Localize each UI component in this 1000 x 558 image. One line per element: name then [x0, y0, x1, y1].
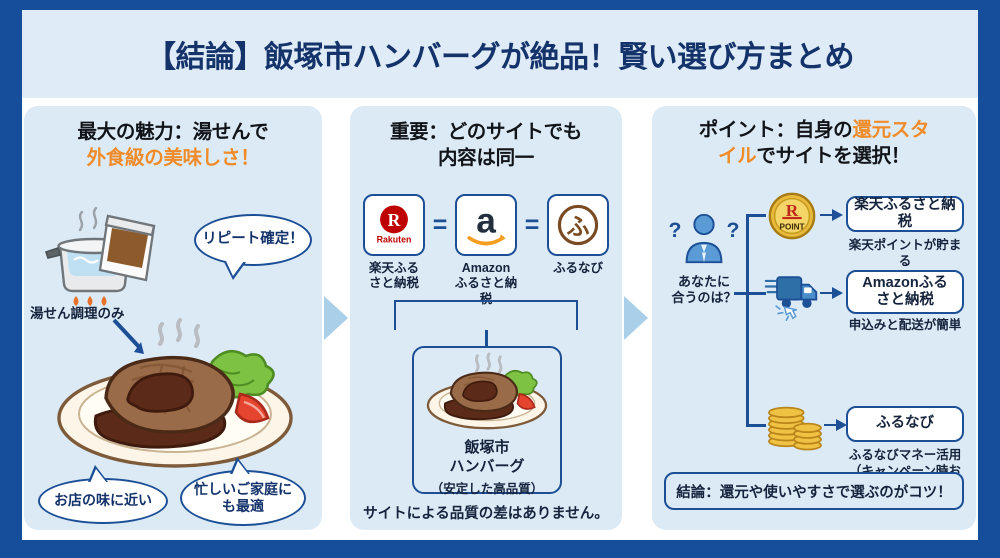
- conclusion-banner: 結論：還元や使いやすさで選ぶのがコツ！: [664, 472, 964, 510]
- svg-text:R: R: [388, 210, 401, 230]
- logo-caption-furunavi: ふるなび: [553, 261, 603, 276]
- gold-coins-stack-icon: [764, 396, 824, 454]
- header-band: 【結論】飯塚市ハンバーグが絶品！賢い選び方まとめ: [22, 10, 978, 98]
- svg-text:Rakuten: Rakuten: [377, 235, 412, 245]
- site-box-amazon[interactable]: Amazonふる さと納税: [846, 270, 964, 314]
- logo-caption-rakuten: 楽天ふる さと納税: [369, 261, 419, 292]
- product-card-title: 飯塚市 ハンバーグ: [449, 439, 524, 477]
- tree-branch-3: [746, 424, 766, 427]
- svg-text:a: a: [476, 201, 496, 240]
- furunavi-logo-icon: ふ: [547, 194, 609, 256]
- row-arrow-2-icon: [832, 287, 843, 299]
- flow-arrow-right-icon: [624, 296, 648, 340]
- heading-accent-2: イル: [718, 145, 756, 167]
- tree-branch-2: [746, 292, 766, 295]
- speech-bubble-repeat-text: リピート確定！: [202, 231, 304, 249]
- heading-line-1: 重要：どのサイトでも: [356, 120, 616, 146]
- panel-appeal-heading: 最大の魅力：湯せんで 外食級の美味しさ！: [24, 106, 322, 171]
- converge-bracket: [394, 300, 578, 330]
- speech-bubble-taste: お店の味に近い: [38, 478, 168, 524]
- panel-choose-site-heading: ポイント：自身の還元スタ イルでサイトを選択！: [652, 106, 976, 169]
- svg-text:?: ?: [669, 218, 682, 242]
- tree-branch-1: [746, 214, 766, 217]
- site-box-furunavi[interactable]: ふるなび: [846, 406, 964, 442]
- heading-line-1: 最大の魅力：湯せんで: [30, 120, 316, 146]
- flow-arrow-right-icon: [324, 296, 348, 340]
- hamburger-steak-plate-icon: [420, 352, 554, 437]
- hamburger-steak-plate-icon: [44, 318, 306, 476]
- person-with-question-marks-icon: ? ? あなたに 合うのは？: [666, 210, 742, 306]
- row-arrow-tail-1: [820, 214, 832, 216]
- logo-cell-furunavi[interactable]: ふ ふるなび: [543, 194, 613, 276]
- page-title: 【結論】飯塚市ハンバーグが絶品！賢い選び方まとめ: [146, 32, 854, 76]
- equals-sign-2: =: [521, 194, 543, 256]
- panel-choose-site: ポイント：自身の還元スタ イルでサイトを選択！ ? ?: [652, 106, 976, 530]
- panel-appeal: 最大の魅力：湯せんで 外食級の美味しさ！: [24, 106, 322, 530]
- tree-trunk: [746, 214, 749, 426]
- site-logo-row: R Rakuten 楽天ふる さと納税 = a: [358, 194, 614, 294]
- delivery-truck-icon: [764, 266, 820, 322]
- heading-line-2: イルでサイトを選択！: [658, 144, 970, 170]
- heading-post: でサイトを選択！: [756, 145, 910, 167]
- heading-pre: ポイント：自身の: [699, 119, 853, 141]
- infographic-card: 【結論】飯塚市ハンバーグが絶品！賢い選び方まとめ 最大の魅力：湯せんで 外食級の…: [22, 10, 978, 540]
- speech-bubble-repeat: リピート確定！: [194, 214, 312, 266]
- svg-text:?: ?: [727, 218, 740, 242]
- panels-row: 最大の魅力：湯せんで 外食級の美味しさ！: [22, 106, 978, 534]
- panel-same-content-heading: 重要：どのサイトでも 内容は同一: [350, 106, 622, 171]
- pot-with-retort-pouch-icon: [38, 198, 168, 310]
- panel-same-content: 重要：どのサイトでも 内容は同一 R Rakuten 楽天ふる: [350, 106, 622, 530]
- speech-bubble-family-text: 忙しいご家庭に も最適: [194, 481, 292, 515]
- rakuten-logo-icon: R Rakuten: [363, 194, 425, 256]
- row-arrow-tail-2: [820, 292, 832, 294]
- equals-sign-1: =: [429, 194, 451, 256]
- rakuten-point-coin-icon: R POINT: [764, 188, 820, 244]
- heading-line-2: 内容は同一: [356, 146, 616, 172]
- product-card-subtitle: （安定した高品質）: [431, 478, 544, 497]
- panel-footnote: サイトによる品質の差はありません。: [350, 502, 622, 523]
- site-box-rakuten[interactable]: 楽天ふるさと納税: [846, 196, 964, 232]
- speech-bubble-family: 忙しいご家庭に も最適: [180, 470, 306, 526]
- site-note-rakuten: 楽天ポイントが貯まる: [846, 238, 964, 269]
- row-arrow-1-icon: [832, 209, 843, 221]
- heading-line-2: 外食級の美味しさ！: [30, 146, 316, 172]
- product-card: 飯塚市 ハンバーグ （安定した高品質）: [412, 346, 562, 494]
- site-note-amazon: 申込みと配送が簡単: [846, 318, 964, 334]
- logo-cell-amazon[interactable]: a Amazon ふるさと納税: [451, 194, 521, 307]
- speech-bubble-taste-text: お店の味に近い: [54, 492, 152, 509]
- heading-accent-1: 還元スタ: [852, 119, 929, 141]
- amazon-logo-icon: a: [455, 194, 517, 256]
- logo-cell-rakuten[interactable]: R Rakuten 楽天ふる さと納税: [359, 194, 429, 292]
- heading-line-1: ポイント：自身の還元スタ: [658, 118, 970, 144]
- row-arrow-tail-3: [824, 424, 836, 426]
- infographic-root: 【結論】飯塚市ハンバーグが絶品！賢い選び方まとめ 最大の魅力：湯せんで 外食級の…: [0, 0, 1000, 558]
- svg-text:ふ: ふ: [566, 213, 589, 240]
- svg-text:POINT: POINT: [779, 223, 804, 232]
- person-label: あなたに 合うのは？: [666, 274, 742, 306]
